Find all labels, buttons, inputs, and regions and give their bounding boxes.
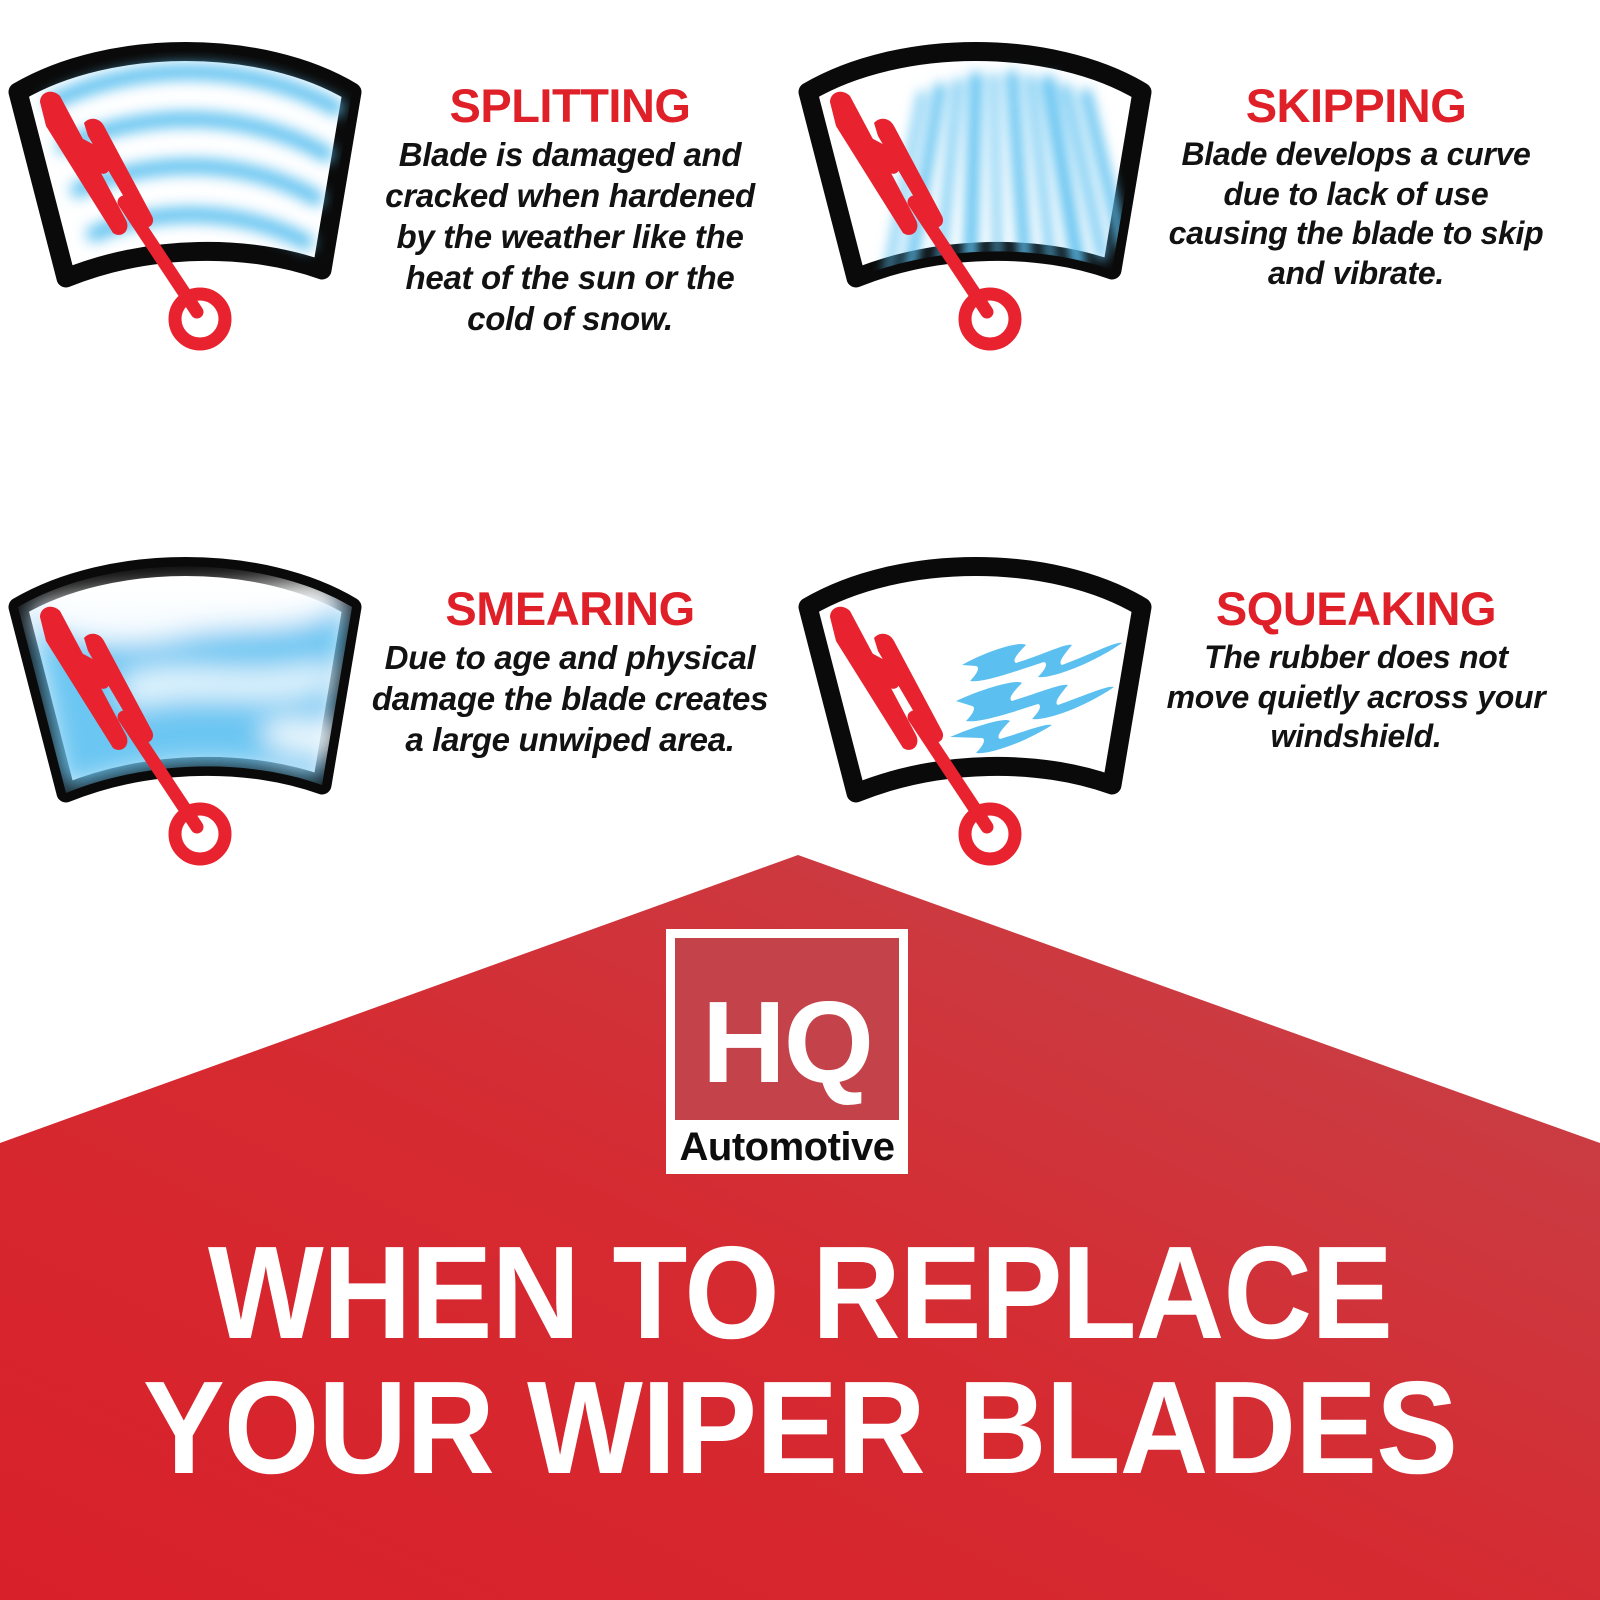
card-description: Blade develops a curve due to lack of us… bbox=[1160, 135, 1552, 294]
card-title: SPLITTING bbox=[370, 82, 770, 129]
card-splitting: SPLITTING Blade is damaged and cracked w… bbox=[0, 30, 790, 450]
wiper-windshield-icon bbox=[790, 30, 1160, 360]
page-title: WHEN TO REPLACE YOUR WIPER BLADES bbox=[0, 1226, 1600, 1495]
wiper-windshield-icon bbox=[0, 30, 370, 360]
logo-hq-automotive: HQ Automotive bbox=[666, 929, 908, 1174]
wiper-windshield-icon bbox=[790, 545, 1160, 875]
logo-mark-box: HQ bbox=[675, 938, 899, 1120]
card-squeaking: SQUEAKING The rubber does not move quiet… bbox=[790, 545, 1580, 965]
headline-line-1: WHEN TO REPLACE bbox=[56, 1226, 1544, 1361]
card-smearing: SMEARING Due to age and physical damage … bbox=[0, 545, 790, 965]
logo-wordmark: Automotive bbox=[675, 1120, 899, 1174]
card-description: Blade is damaged and cracked when harden… bbox=[370, 135, 770, 340]
card-title: SKIPPING bbox=[1160, 82, 1552, 129]
wiper-windshield-icon bbox=[0, 545, 370, 875]
card-description: The rubber does not move quietly across … bbox=[1160, 638, 1552, 757]
infographic-poster: SPLITTING Blade is damaged and cracked w… bbox=[0, 0, 1600, 1600]
card-skipping: SKIPPING Blade develops a curve due to l… bbox=[790, 30, 1580, 450]
card-title: SQUEAKING bbox=[1160, 585, 1552, 632]
card-title: SMEARING bbox=[370, 585, 770, 632]
card-description: Due to age and physical damage the blade… bbox=[370, 638, 770, 761]
headline-line-2: YOUR WIPER BLADES bbox=[56, 1361, 1544, 1496]
logo-mark-text: HQ bbox=[702, 984, 872, 1100]
